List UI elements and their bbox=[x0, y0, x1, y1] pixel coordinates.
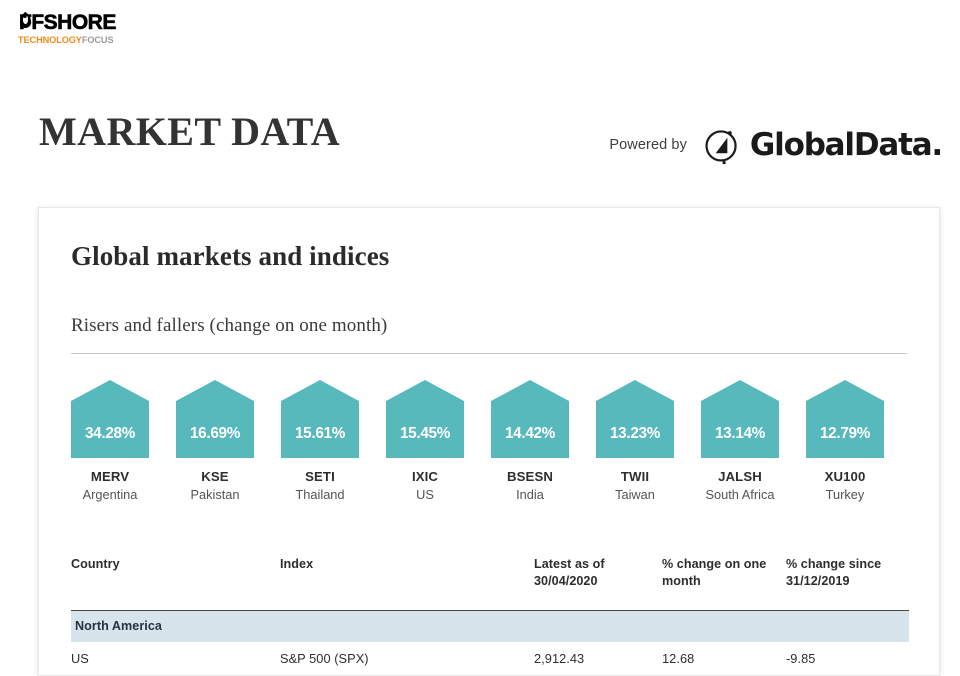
column-header-index[interactable]: Index bbox=[280, 556, 534, 611]
market-table-wrap: Country Index Latest as of 30/04/2020 % … bbox=[71, 556, 907, 675]
riser-value-label: 12.79% bbox=[806, 426, 884, 441]
oil-drop-icon bbox=[20, 13, 31, 28]
riser-ticker-label: IXIC bbox=[386, 469, 464, 485]
riser-bar-shape: 15.45% bbox=[386, 380, 464, 458]
riser-value-label: 13.23% bbox=[596, 426, 674, 441]
site-logo-offshore-label: FFSHORE bbox=[19, 11, 116, 34]
riser-ticker-label: TWII bbox=[596, 469, 674, 485]
riser-bar-shape: 12.79% bbox=[806, 380, 884, 458]
globaldata-circle-icon bbox=[701, 124, 743, 166]
site-logo-technology-label: TECHNOLOGY bbox=[18, 35, 82, 45]
riser-item: 15.61%SETIThailand bbox=[281, 380, 359, 502]
riser-value-label: 15.61% bbox=[281, 426, 359, 441]
riser-value-label: 13.14% bbox=[701, 426, 779, 441]
riser-item: 15.45%IXICUS bbox=[386, 380, 464, 502]
riser-bar-shape: 13.23% bbox=[596, 380, 674, 458]
riser-country-label: Taiwan bbox=[596, 487, 674, 502]
riser-ticker-label: XU100 bbox=[806, 469, 884, 485]
market-table: Country Index Latest as of 30/04/2020 % … bbox=[71, 556, 909, 675]
riser-ticker-label: BSESN bbox=[491, 469, 569, 485]
riser-ticker-label: KSE bbox=[176, 469, 254, 485]
riser-country-label: India bbox=[491, 487, 569, 502]
risers-chart: 34.28%MERVArgentina16.69%KSEPakistan15.6… bbox=[71, 380, 907, 502]
powered-by-label: Powered by bbox=[609, 137, 687, 153]
column-header-latest[interactable]: Latest as of 30/04/2020 bbox=[534, 556, 662, 611]
table-section-label: North America bbox=[71, 611, 909, 643]
card-title: Global markets and indices bbox=[71, 241, 907, 272]
market-data-card: Global markets and indices Risers and fa… bbox=[38, 207, 940, 676]
riser-bar-shape: 34.28% bbox=[71, 380, 149, 458]
riser-ticker-label: JALSH bbox=[701, 469, 779, 485]
page-header: MARKET DATA Powered by GlobalData. bbox=[0, 108, 960, 174]
table-row[interactable]: USS&P 500 (SPX)2,912.4312.68-9.85 bbox=[71, 642, 909, 675]
riser-item: 13.14%JALSHSouth Africa bbox=[701, 380, 779, 502]
market-table-body: North AmericaUSS&P 500 (SPX)2,912.4312.6… bbox=[71, 611, 909, 676]
riser-bar-shape: 13.14% bbox=[701, 380, 779, 458]
riser-country-label: Thailand bbox=[281, 487, 359, 502]
globaldata-logo[interactable]: GlobalData. bbox=[701, 124, 942, 166]
riser-bar-shape: 15.61% bbox=[281, 380, 359, 458]
riser-country-label: Argentina bbox=[71, 487, 149, 502]
card-subtitle: Risers and fallers (change on one month) bbox=[71, 315, 907, 337]
table-header-row: Country Index Latest as of 30/04/2020 % … bbox=[71, 556, 909, 611]
riser-ticker-label: SETI bbox=[281, 469, 359, 485]
table-cell-country: US bbox=[71, 642, 280, 675]
table-cell-change-month: 12.68 bbox=[662, 642, 786, 675]
column-header-change-month[interactable]: % change on one month bbox=[662, 556, 786, 611]
table-cell-change-ytd: -9.85 bbox=[786, 642, 909, 675]
riser-ticker-label: MERV bbox=[71, 469, 149, 485]
riser-item: 14.42%BSESNIndia bbox=[491, 380, 569, 502]
riser-item: 16.69%KSEPakistan bbox=[176, 380, 254, 502]
riser-bar-shape: 16.69% bbox=[176, 380, 254, 458]
riser-country-label: US bbox=[386, 487, 464, 502]
page-title: MARKET DATA bbox=[39, 108, 340, 156]
site-logo-offshore-text: FFSHORE bbox=[18, 12, 168, 33]
market-table-head: Country Index Latest as of 30/04/2020 % … bbox=[71, 556, 909, 611]
riser-value-label: 16.69% bbox=[176, 426, 254, 441]
column-header-country[interactable]: Country bbox=[71, 556, 280, 611]
site-logo-focus-label: FOCUS bbox=[82, 35, 114, 45]
table-cell-index: S&P 500 (SPX) bbox=[280, 642, 534, 675]
riser-item: 34.28%MERVArgentina bbox=[71, 380, 149, 502]
site-logo-subline: TECHNOLOGYFOCUS bbox=[18, 36, 168, 45]
column-header-change-ytd[interactable]: % change since 31/12/2019 bbox=[786, 556, 909, 611]
riser-country-label: Turkey bbox=[806, 487, 884, 502]
riser-value-label: 14.42% bbox=[491, 426, 569, 441]
riser-country-label: Pakistan bbox=[176, 487, 254, 502]
table-section-row: North America bbox=[71, 611, 909, 643]
powered-by-block: Powered by GlobalData. bbox=[609, 124, 942, 166]
riser-bar-shape: 14.42% bbox=[491, 380, 569, 458]
table-cell-latest: 2,912.43 bbox=[534, 642, 662, 675]
globaldata-wordmark: GlobalData. bbox=[750, 130, 942, 161]
riser-country-label: South Africa bbox=[701, 487, 779, 502]
riser-item: 13.23%TWIITaiwan bbox=[596, 380, 674, 502]
riser-item: 12.79%XU100Turkey bbox=[806, 380, 884, 502]
site-logo[interactable]: FFSHORE TECHNOLOGYFOCUS bbox=[18, 12, 168, 45]
section-divider bbox=[71, 353, 907, 354]
riser-value-label: 34.28% bbox=[71, 426, 149, 441]
riser-value-label: 15.45% bbox=[386, 426, 464, 441]
